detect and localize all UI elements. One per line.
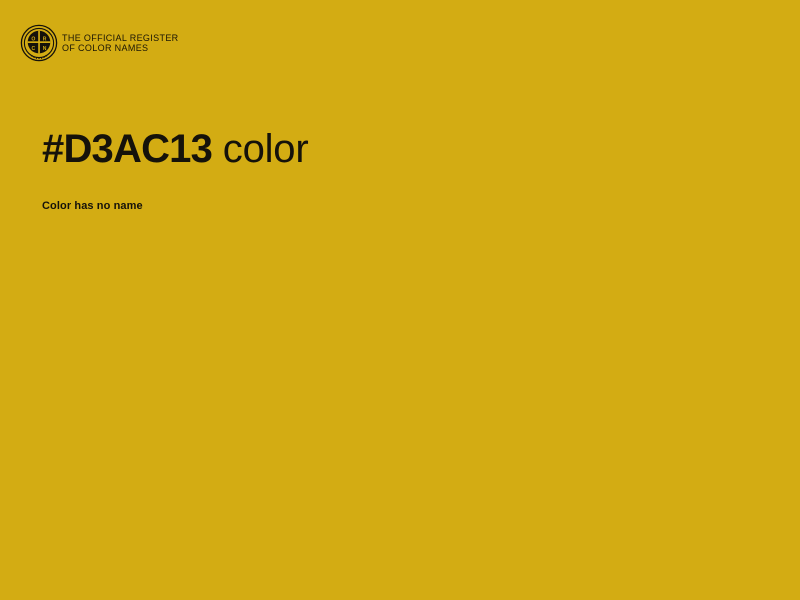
page-title: #D3AC13 color: [42, 126, 742, 172]
page-title-suffix: color: [223, 127, 309, 171]
color-hex-value: #D3AC13: [42, 127, 212, 171]
svg-text:N: N: [43, 46, 47, 52]
brand-wordmark: THE OFFICIAL REGISTER OF COLOR NAMES: [62, 33, 179, 54]
brand-line-1: THE OFFICIAL REGISTER: [62, 33, 179, 44]
color-name-label: Color has no name: [42, 200, 742, 212]
color-info: #D3AC13 color Color has no name: [42, 126, 742, 212]
brand-line-2: OF COLOR NAMES: [62, 43, 179, 54]
svg-text:O: O: [31, 36, 35, 42]
svg-text:R: R: [43, 36, 47, 42]
register-seal-icon: O R C N: [20, 24, 58, 62]
brand-lockup[interactable]: O R C N THE OFFICIAL REGISTER OF COLOR N…: [20, 24, 179, 62]
svg-text:C: C: [32, 46, 36, 52]
color-page: O R C N THE OFFICIAL REGISTER OF COLOR N…: [0, 0, 800, 600]
